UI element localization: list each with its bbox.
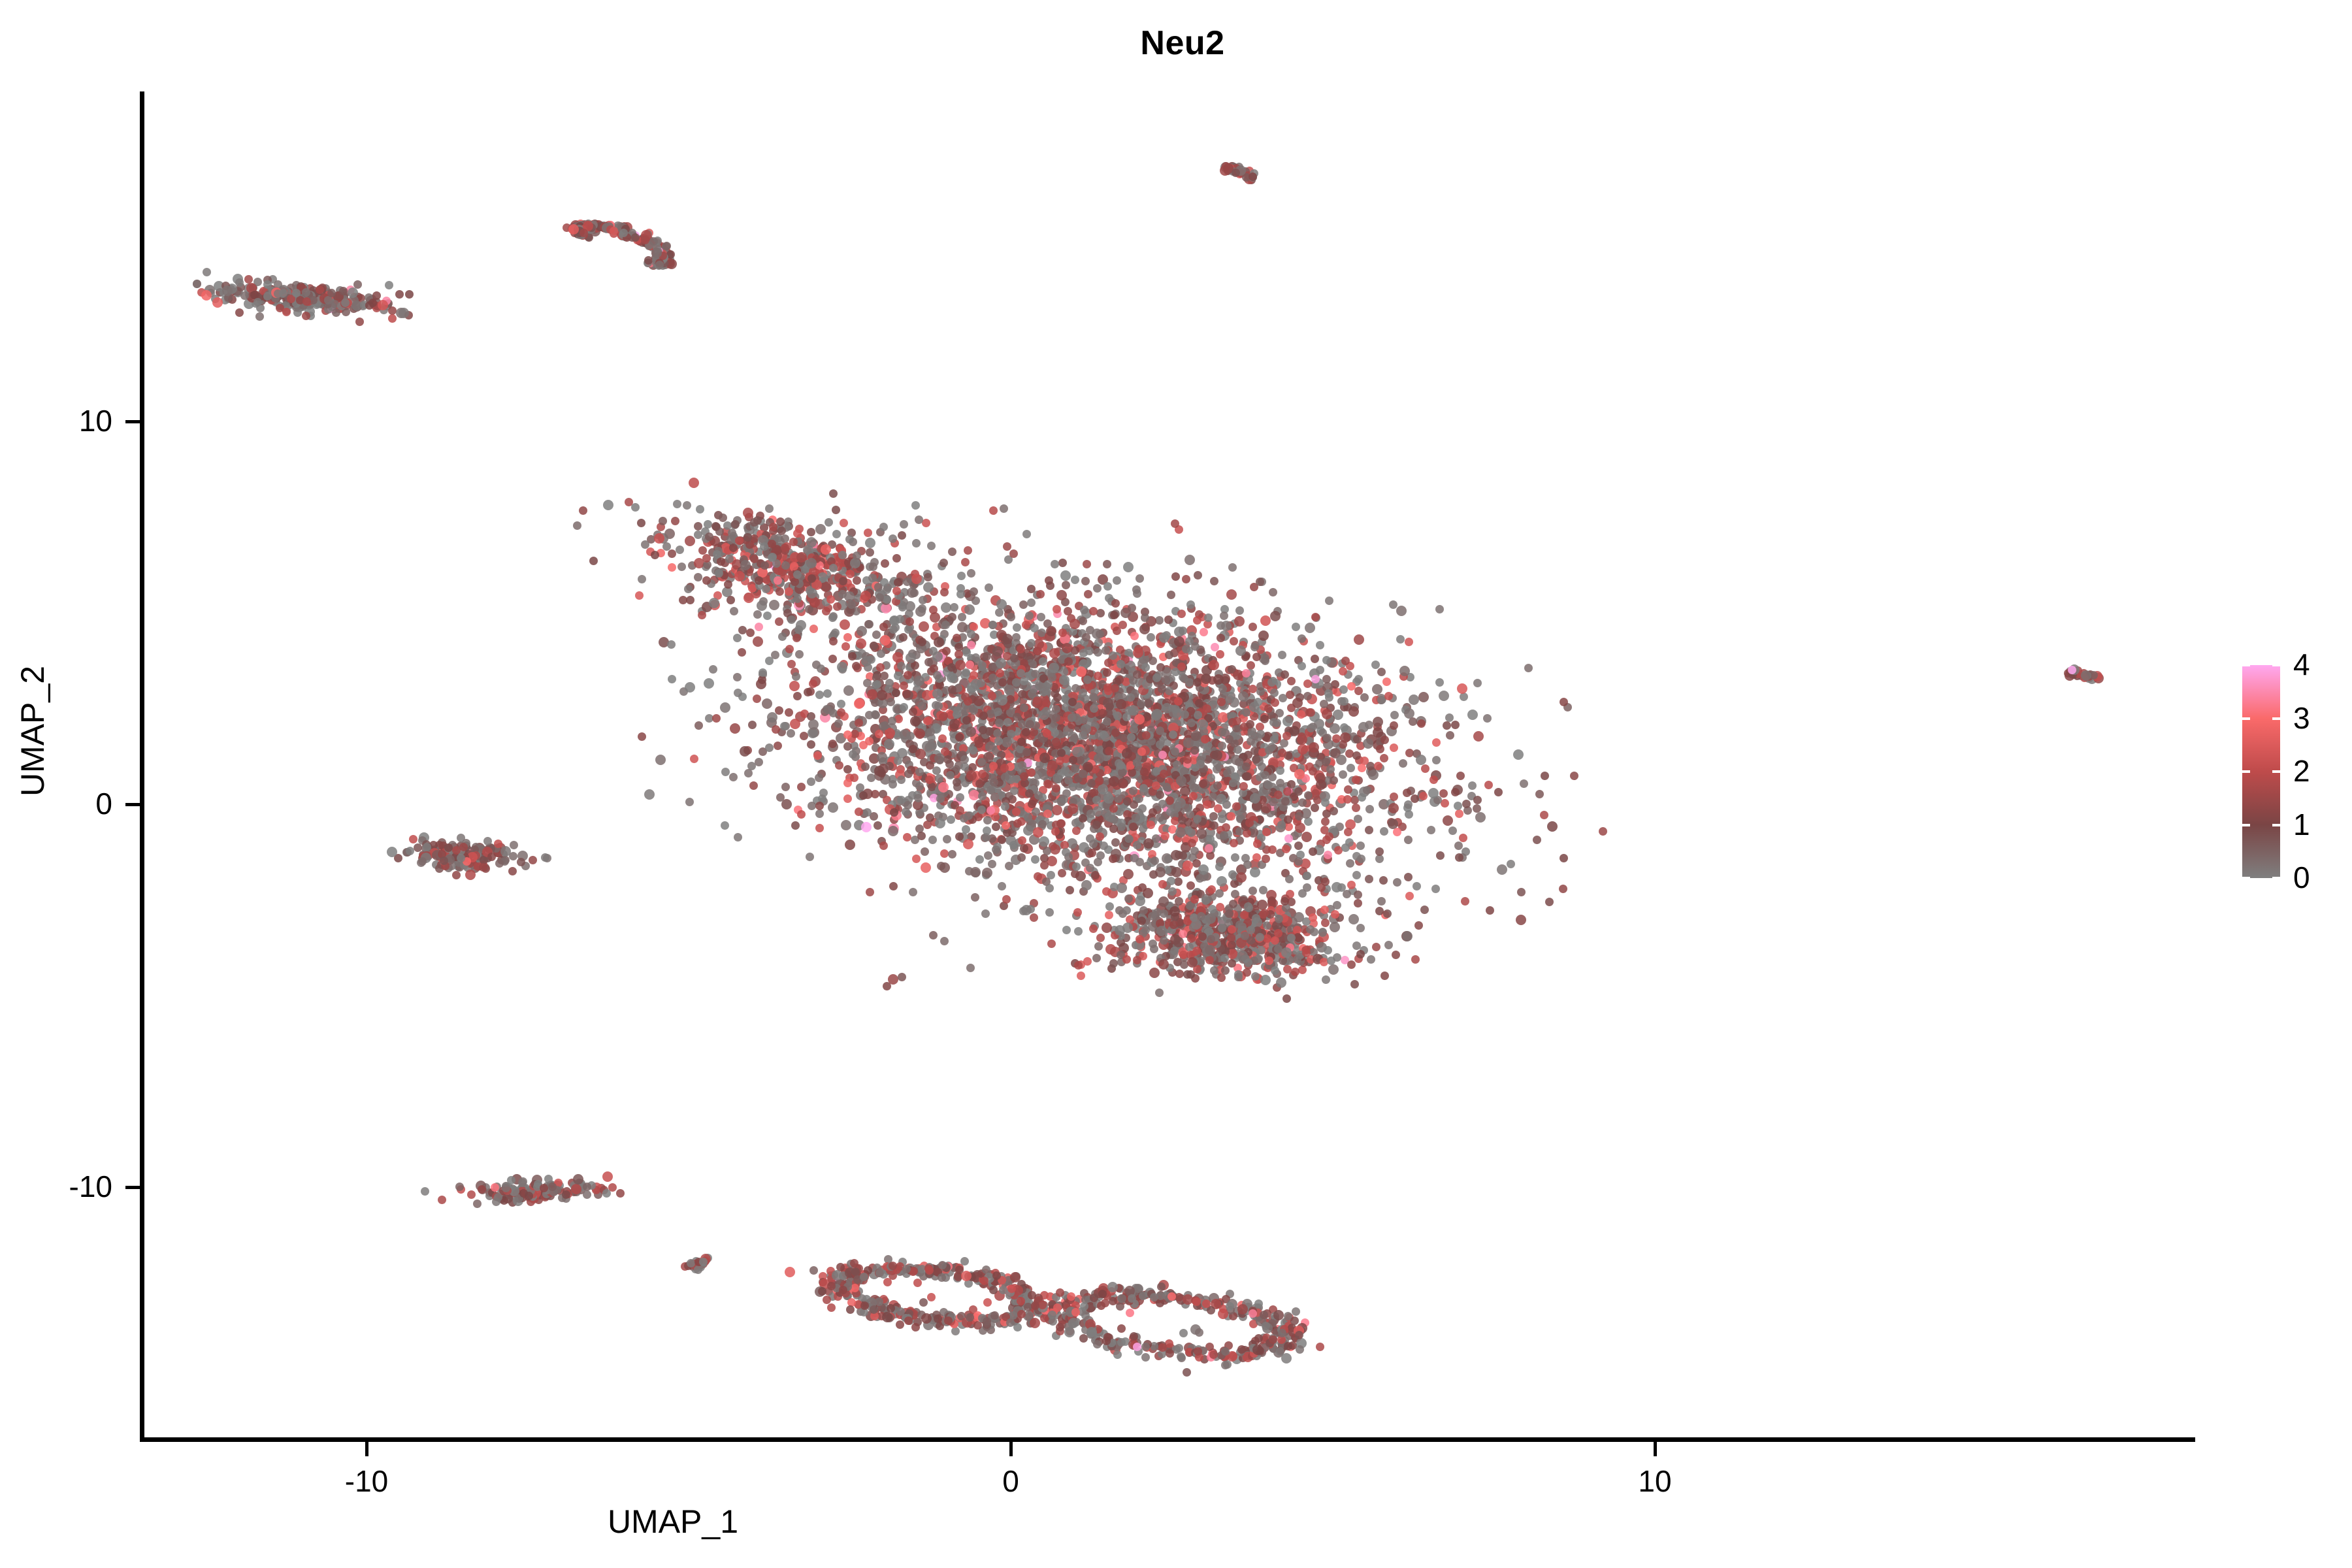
plot-panel: [144, 91, 2195, 1439]
plot-title-text: Neu2: [1140, 24, 1224, 62]
page-title: Neu2: [0, 24, 2352, 63]
figure-root: Neu2 -10010-10010 UMAP_1 UMAP_2 43210: [0, 0, 2352, 1568]
